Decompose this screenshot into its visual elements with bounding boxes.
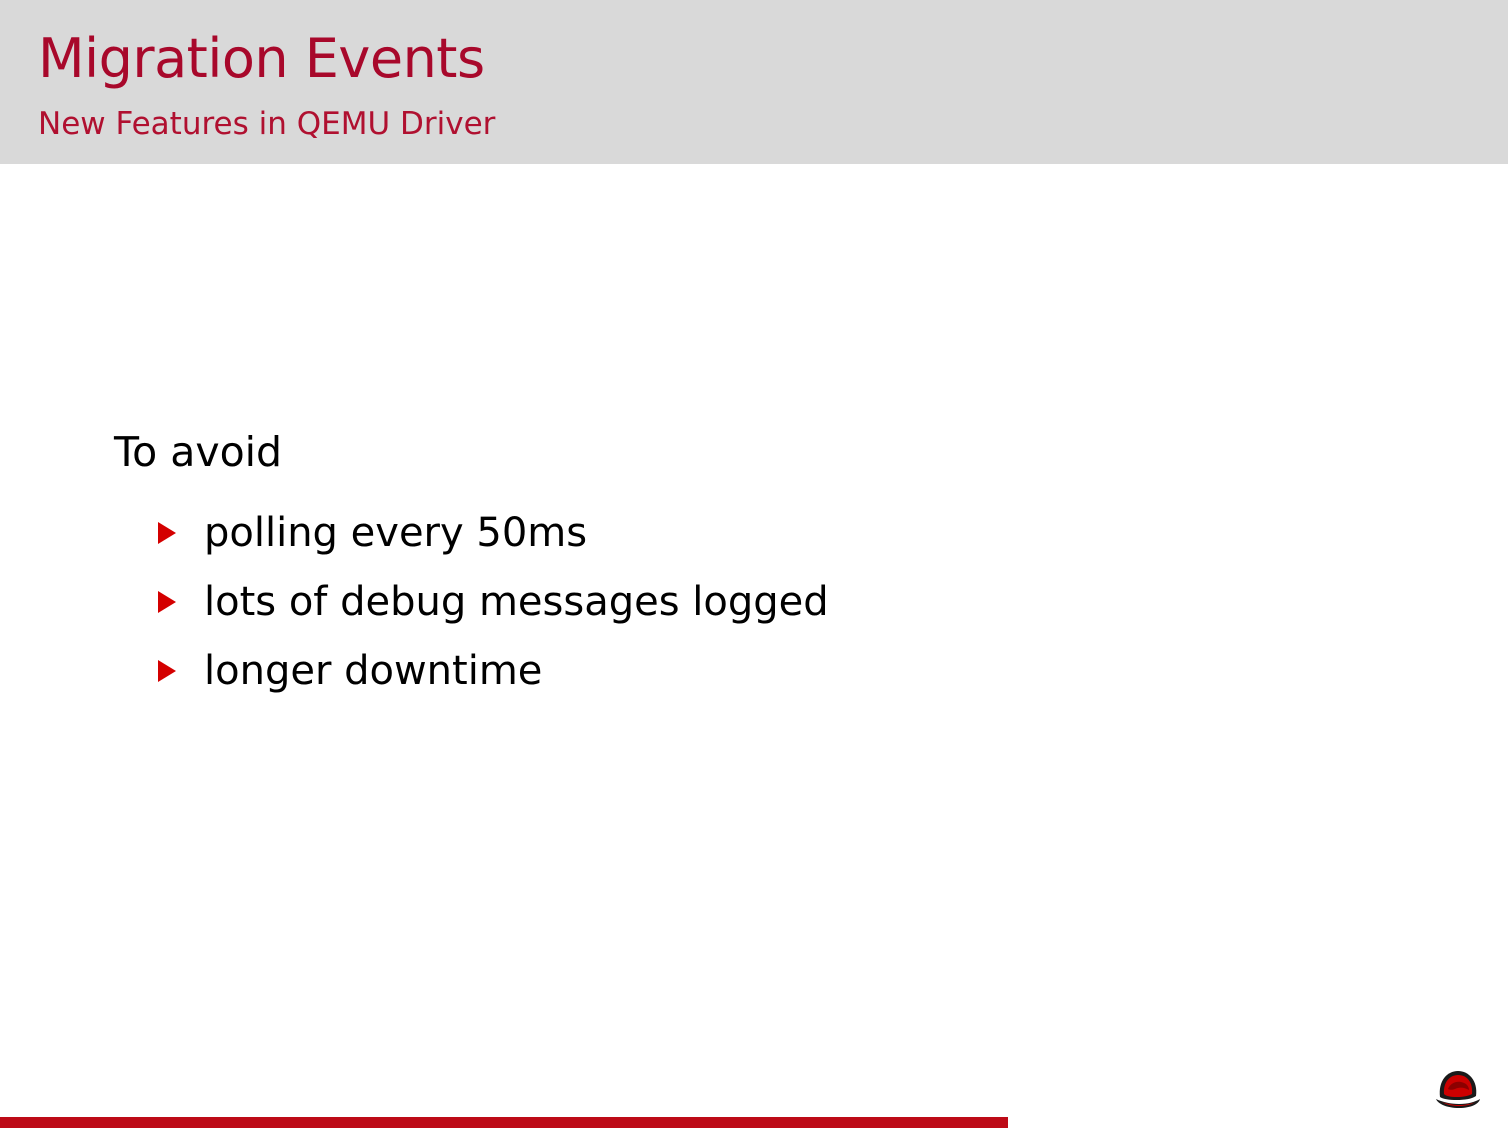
slide: Migration Events New Features in QEMU Dr… bbox=[0, 0, 1508, 1131]
triangle-bullet-icon bbox=[158, 591, 204, 613]
intro-heading: To avoid bbox=[114, 427, 282, 477]
list-item-label: lots of debug messages logged bbox=[204, 578, 829, 626]
list-item-label: longer downtime bbox=[204, 647, 542, 695]
list-item: lots of debug messages logged bbox=[158, 567, 829, 636]
triangle-bullet-icon bbox=[158, 522, 204, 544]
footer-rule bbox=[0, 1117, 1008, 1128]
page-subtitle: New Features in QEMU Driver bbox=[38, 104, 495, 144]
red-hat-fedora-logo bbox=[1428, 1063, 1488, 1113]
slide-header: Migration Events New Features in QEMU Dr… bbox=[0, 0, 1508, 164]
triangle-bullet-icon bbox=[158, 660, 204, 682]
bullet-list: polling every 50ms lots of debug message… bbox=[158, 498, 829, 705]
list-item-label: polling every 50ms bbox=[204, 509, 587, 557]
page-title: Migration Events bbox=[38, 28, 485, 90]
list-item: polling every 50ms bbox=[158, 498, 829, 567]
list-item: longer downtime bbox=[158, 636, 829, 705]
slide-body: To avoid polling every 50ms lots of debu… bbox=[0, 164, 1508, 1104]
